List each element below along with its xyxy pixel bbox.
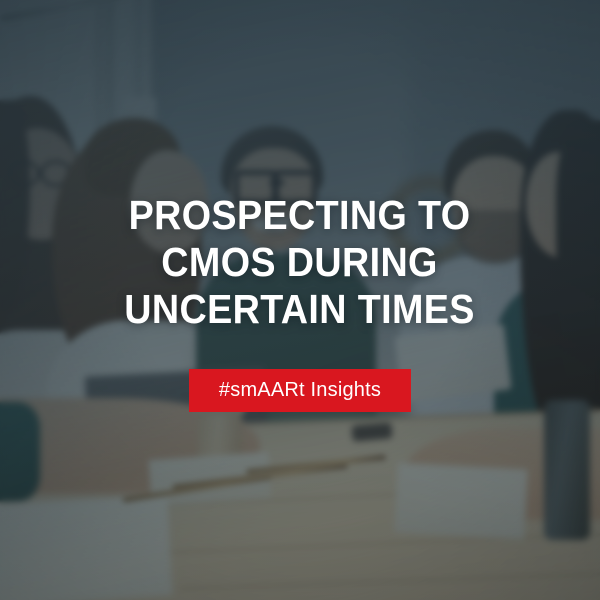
card-content: PROSPECTING TO CMOS DURING UNCERTAIN TIM…	[0, 0, 600, 600]
page-title: PROSPECTING TO CMOS DURING UNCERTAIN TIM…	[125, 195, 476, 330]
headline-line-2: CMOS DURING	[125, 242, 476, 283]
smaart-insights-badge[interactable]: #smAARt Insights	[189, 369, 411, 412]
headline-line-3: UNCERTAIN TIMES	[125, 289, 476, 330]
headline-line-1: PROSPECTING TO	[125, 195, 476, 236]
social-media-card: PROSPECTING TO CMOS DURING UNCERTAIN TIM…	[0, 0, 600, 600]
